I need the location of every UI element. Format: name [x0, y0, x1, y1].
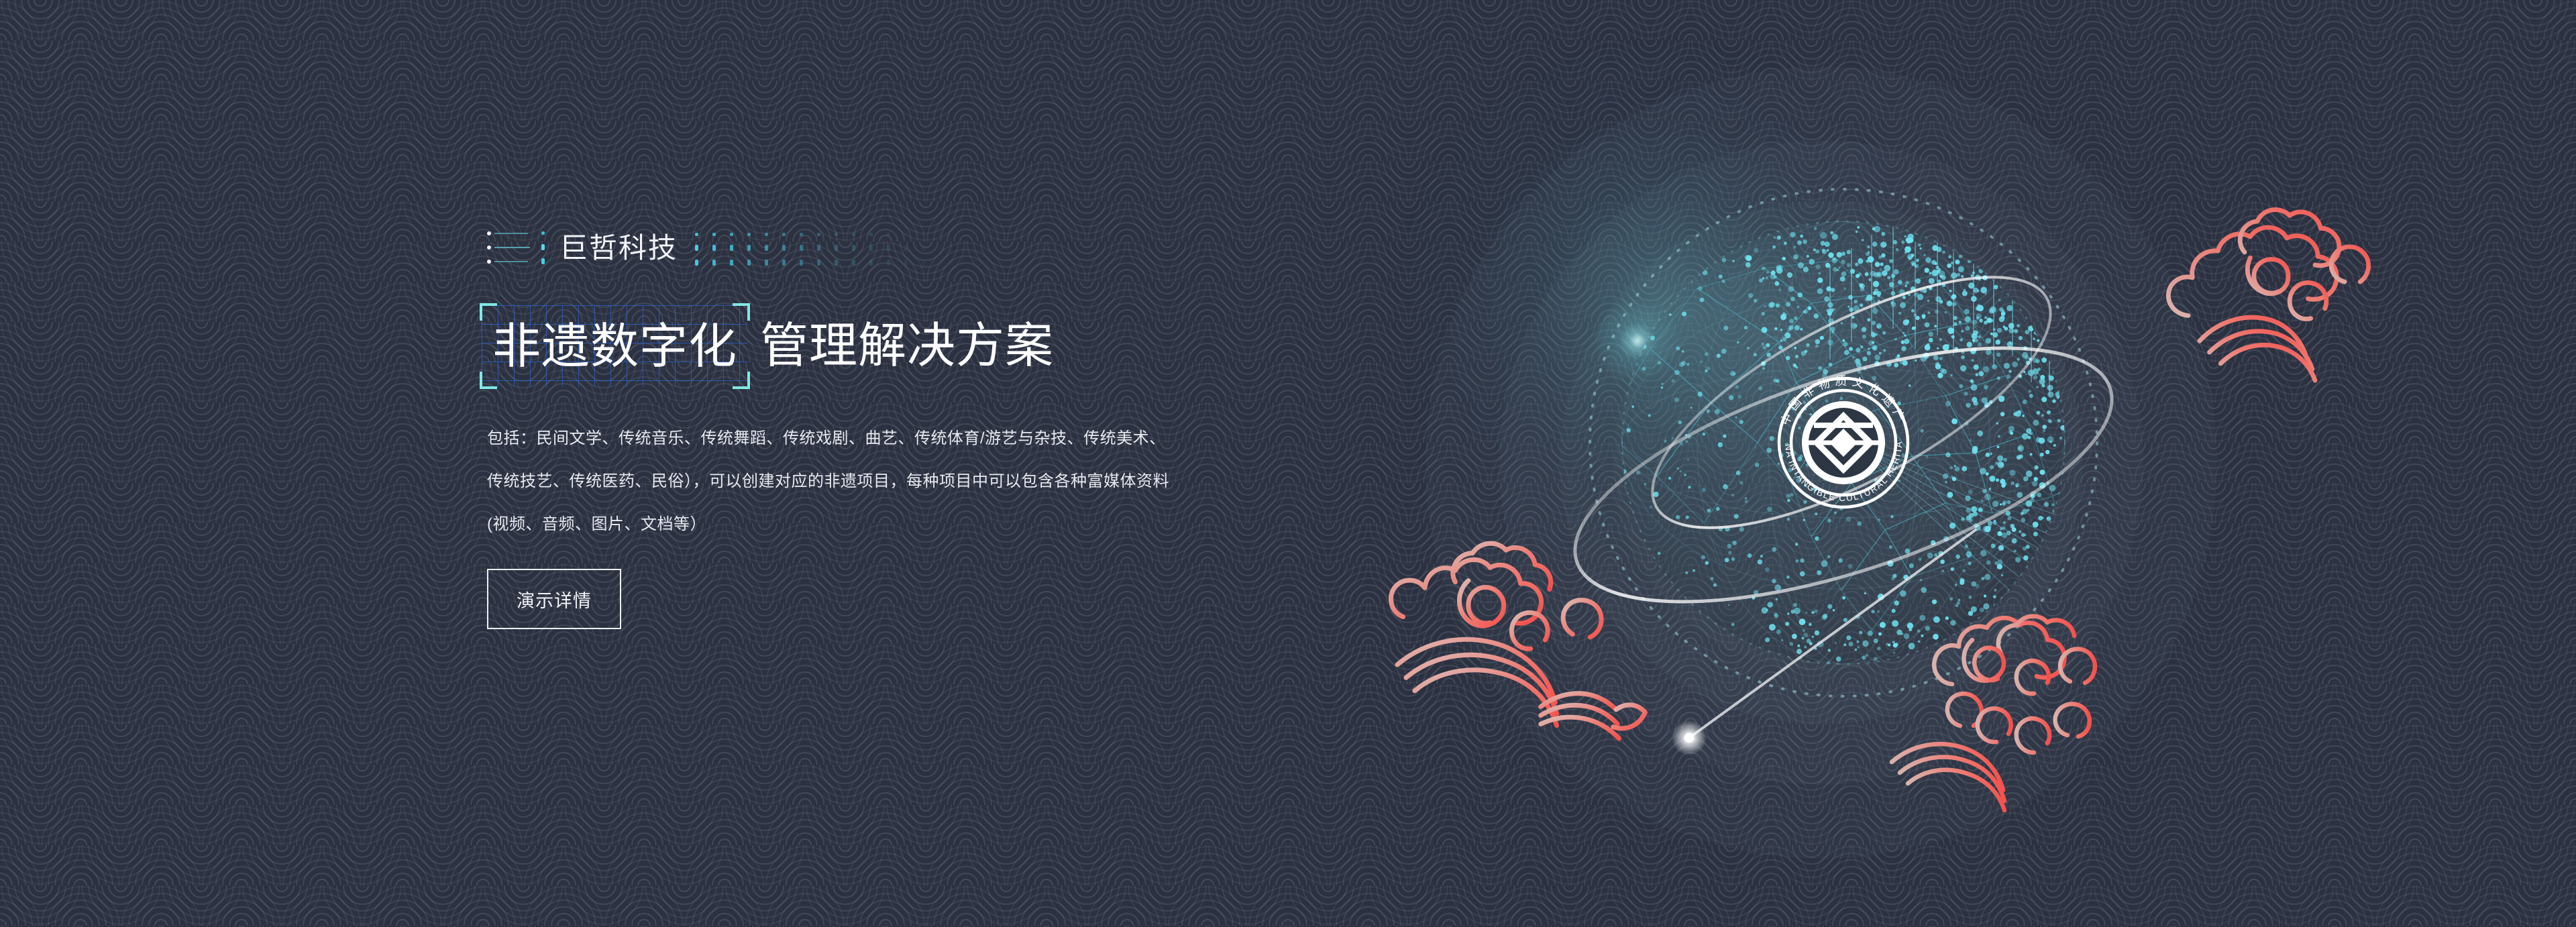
page-title: 非遗数字化 管理解决方案 — [487, 299, 1279, 393]
headline-highlight-frame: 非遗数字化 — [482, 305, 748, 387]
description-text: 包括：民间文学、传统音乐、传统舞蹈、传统戏剧、曲艺、传统体育/游艺与杂技、传统美… — [487, 417, 1178, 546]
fading-dot-grid-icon — [695, 231, 991, 266]
brand-row: 巨哲科技 — [487, 221, 1279, 275]
corner-bracket-top-left-icon — [480, 303, 497, 321]
corner-bracket-top-right-icon — [733, 303, 750, 321]
brand-name: 巨哲科技 — [559, 234, 678, 262]
hero-banner: 中国非物质文化遗产 CHINA INTANGIBLE CULTURAL HERI… — [0, 0, 2576, 927]
demo-details-button[interactable]: 演示详情 — [487, 569, 621, 629]
corner-bracket-bottom-left-icon — [480, 372, 497, 389]
particle-globe: 中国非物质文化遗产 CHINA INTANGIBLE CULTURAL HERI… — [1476, 67, 2214, 805]
hero-content: 巨哲科技 非遗数字化 管理解决方案 包括：民间文学、传统音乐、传统舞蹈、传统戏剧… — [487, 221, 1279, 629]
corner-bracket-bottom-right-icon — [733, 372, 750, 389]
three-line-dot-ornament-icon — [487, 227, 545, 269]
headline-highlight-text: 非遗数字化 — [492, 320, 737, 374]
headline-rest-text: 管理解决方案 — [760, 322, 1054, 370]
